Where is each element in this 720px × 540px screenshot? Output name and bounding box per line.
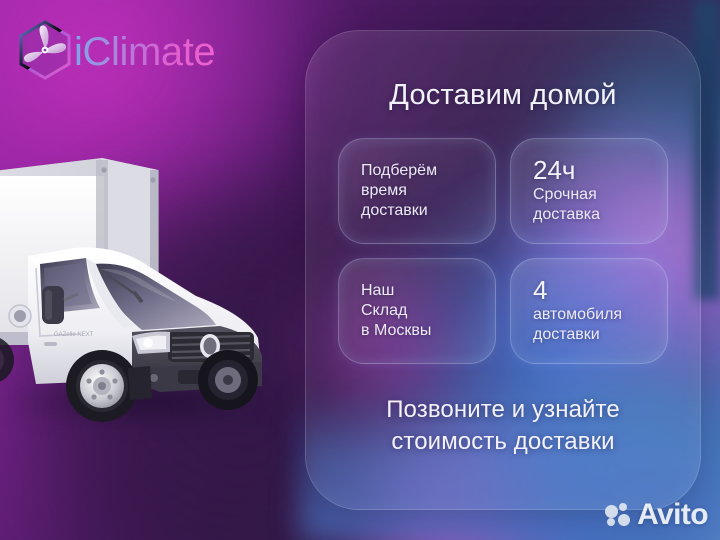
page-title: Доставим домой xyxy=(389,79,616,112)
card-line: доставки xyxy=(361,201,489,221)
svg-text:GAZelle NEXT: GAZelle NEXT xyxy=(54,332,94,338)
hexagon-wind-turbine-icon xyxy=(14,18,76,86)
card-line: время xyxy=(361,181,489,201)
feature-card-grid: Подберём время доставки 24ч Срочная дост… xyxy=(338,138,668,364)
card-line: Склад xyxy=(361,301,489,321)
card-highlight-value: 4 xyxy=(533,277,661,304)
avito-dots-icon xyxy=(605,503,632,527)
delivery-time-card[interactable]: Подберём время доставки xyxy=(338,138,496,244)
card-line: Наш xyxy=(361,281,489,301)
call-to-action: Позвоните и узнайте стоимость доставки xyxy=(306,394,700,458)
cta-line-2: стоимость доставки xyxy=(306,426,700,458)
card-line: автомобиля xyxy=(533,305,661,325)
card-line: в Москвы xyxy=(361,321,489,341)
brand-logo: iClimate xyxy=(14,18,219,86)
card-line: Срочная xyxy=(533,185,661,205)
avito-watermark: Avito xyxy=(605,500,708,530)
card-line: доставка xyxy=(533,205,661,225)
warehouse-card[interactable]: Наш Склад в Москвы xyxy=(338,258,496,364)
delivery-box-truck-illustration: GAZelle NEXT xyxy=(0,136,298,426)
card-highlight-value: 24ч xyxy=(533,157,661,184)
card-line: Подберём xyxy=(361,161,489,181)
avito-wordmark: Avito xyxy=(637,500,708,530)
brand-name: iClimate xyxy=(74,32,219,72)
promo-banner: iClimate xyxy=(0,0,720,540)
cta-line-1: Позвоните и узнайте xyxy=(306,394,700,426)
offer-panel: Доставим домой Подберём время доставки 2… xyxy=(305,30,701,510)
card-line: доставки xyxy=(533,325,661,345)
fleet-card[interactable]: 4 автомобиля доставки xyxy=(510,258,668,364)
urgent-delivery-card[interactable]: 24ч Срочная доставка xyxy=(510,138,668,244)
